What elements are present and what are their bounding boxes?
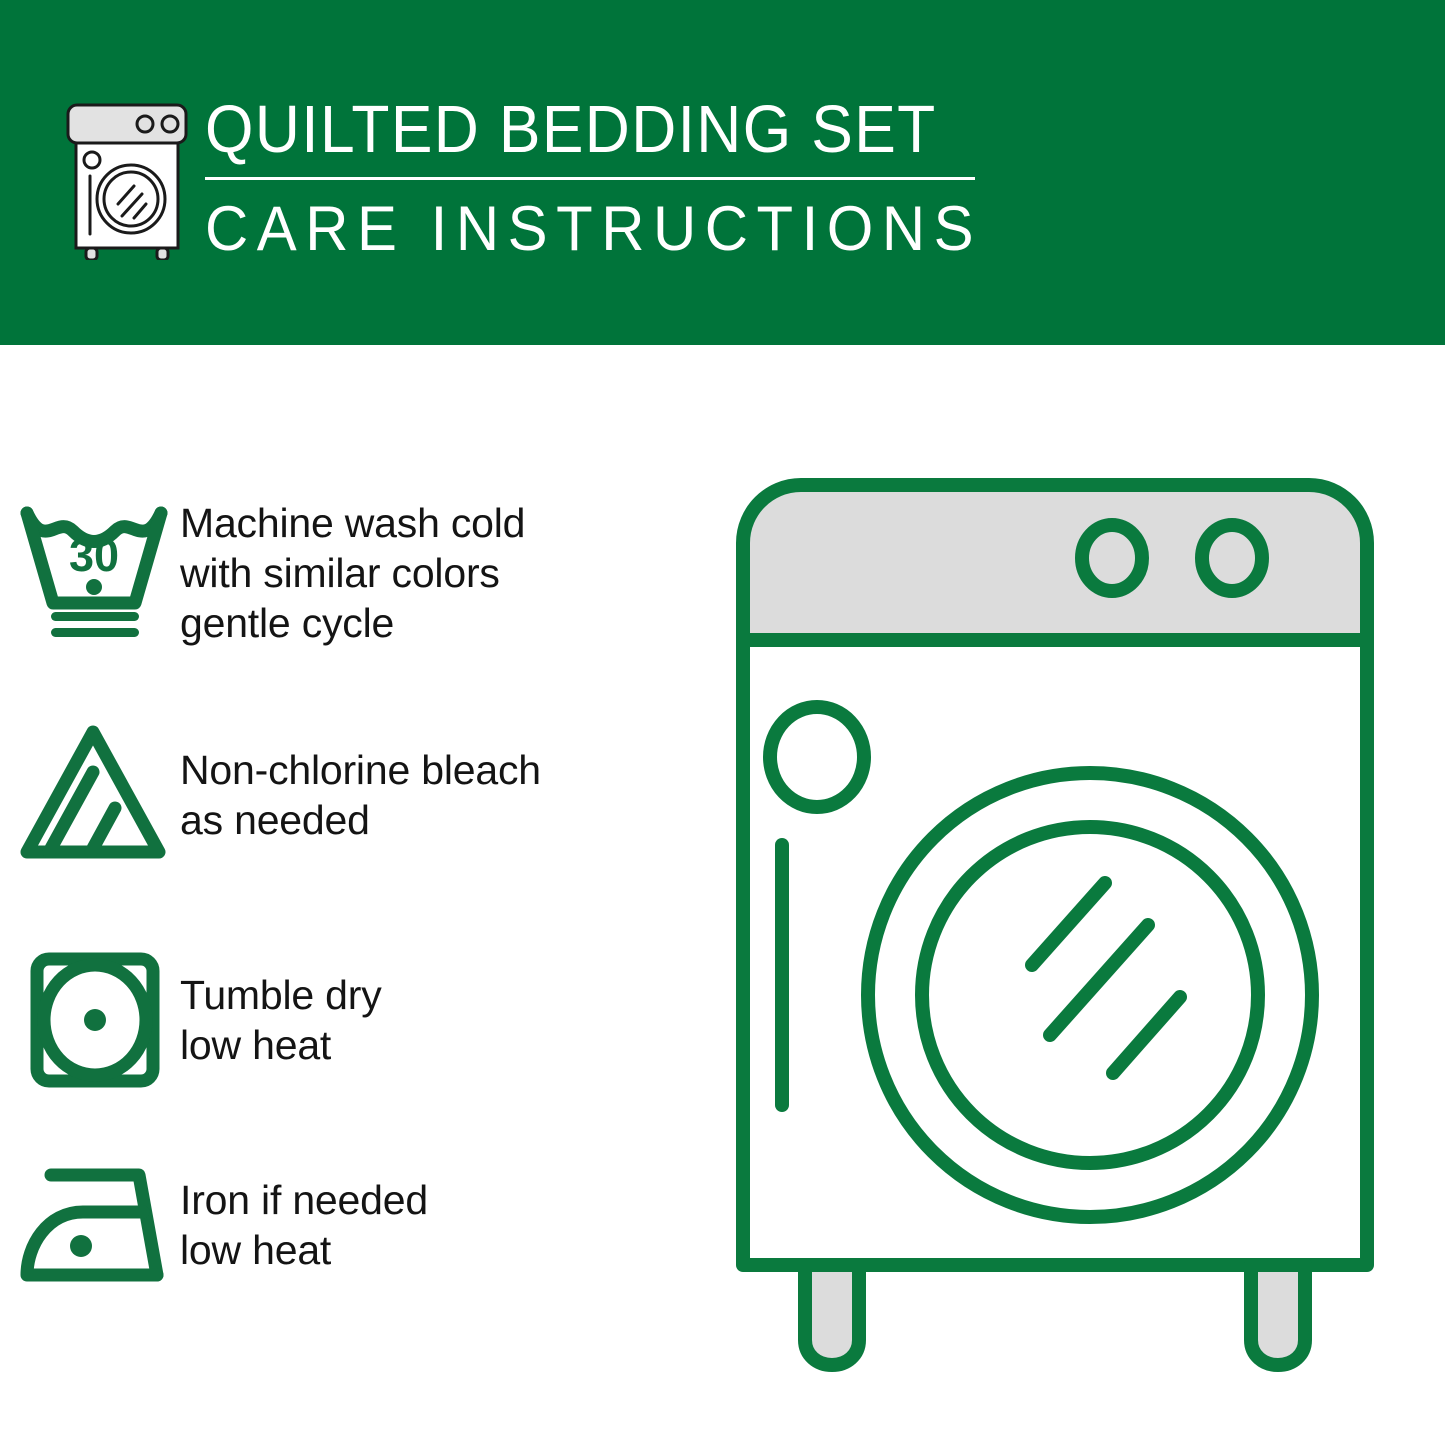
care-row: Tumble dry low heat xyxy=(0,940,700,1100)
care-row-label: Tumble dry low heat xyxy=(180,940,382,1070)
care-row: Iron if needed low heat xyxy=(0,1145,700,1305)
care-row: Non-chlorine bleach as needed xyxy=(0,715,700,875)
care-instruction-list: 30 Machine wash cold with similar colors… xyxy=(0,345,700,1445)
care-instructions-label: QUILTED BEDDING SET CARE INSTRUCTIONS 30 xyxy=(0,0,1445,1445)
care-row-label: Machine wash cold with similar colors ge… xyxy=(180,490,525,648)
wash-temp-value: 30 xyxy=(69,530,119,581)
wash-tub-30-symbol: 30 xyxy=(0,490,180,650)
bleach-triangle-symbol xyxy=(0,715,180,875)
page-subtitle: CARE INSTRUCTIONS xyxy=(205,198,1060,261)
title-divider xyxy=(205,177,975,180)
care-row: 30 Machine wash cold with similar colors… xyxy=(0,490,700,650)
header-text-block: QUILTED BEDDING SET CARE INSTRUCTIONS xyxy=(205,96,1105,261)
tumble-dry-symbol xyxy=(0,940,180,1100)
care-row-label: Iron if needed low heat xyxy=(180,1145,428,1275)
washing-machine-illustration xyxy=(705,465,1405,1375)
header-banner: QUILTED BEDDING SET CARE INSTRUCTIONS xyxy=(0,0,1445,345)
washing-machine-icon xyxy=(62,100,192,260)
page-title: QUILTED BEDDING SET xyxy=(205,96,1042,163)
care-row-label: Non-chlorine bleach as needed xyxy=(180,715,541,845)
iron-symbol xyxy=(0,1145,180,1305)
